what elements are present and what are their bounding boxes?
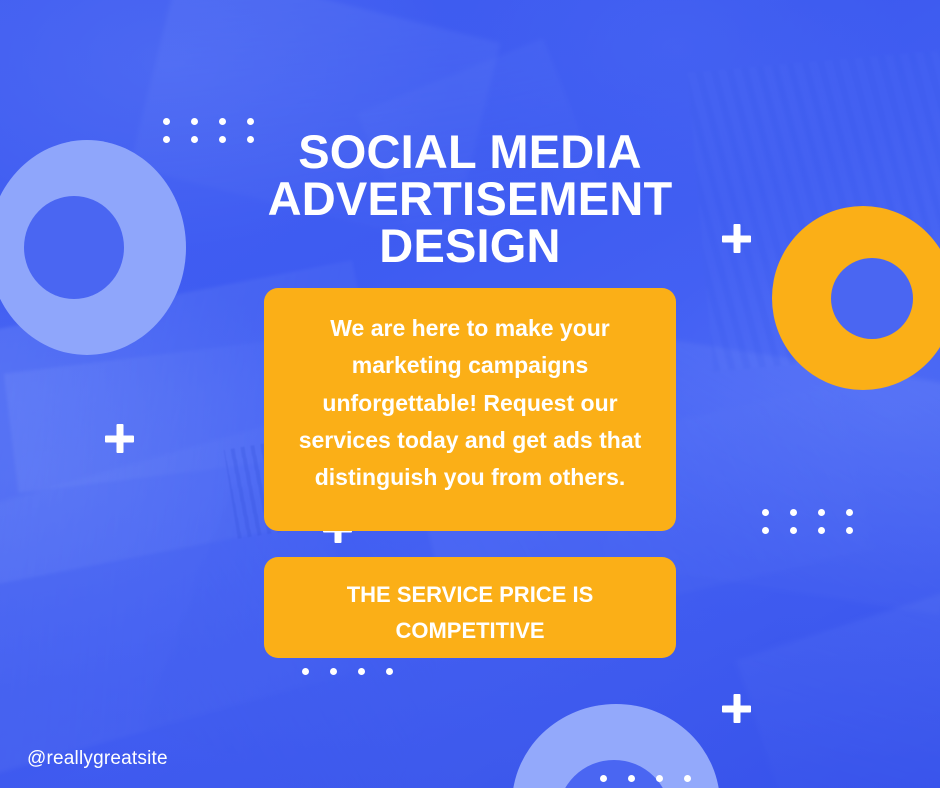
dot xyxy=(846,527,853,534)
dot-grid-middle-right xyxy=(762,509,853,534)
dot xyxy=(163,118,170,125)
ring-right-inner-icon xyxy=(831,258,913,339)
dot xyxy=(818,509,825,516)
dot xyxy=(656,775,663,782)
dot xyxy=(628,775,635,782)
dot xyxy=(358,668,365,675)
dot xyxy=(247,118,254,125)
dot xyxy=(330,668,337,675)
dot xyxy=(684,775,691,782)
dot xyxy=(600,775,607,782)
dot xyxy=(386,668,393,675)
price-card: THE SERVICE PRICE IS COMPETITIVE xyxy=(264,557,676,658)
plus-mark-bottom-right-icon xyxy=(722,694,751,723)
description-card: We are here to make your marketing campa… xyxy=(264,288,676,531)
dot xyxy=(219,118,226,125)
dot xyxy=(818,527,825,534)
plus-mark-left-icon xyxy=(105,424,134,453)
dot xyxy=(762,509,769,516)
page-title: SOCIAL MEDIA ADVERTISEMENT DESIGN xyxy=(180,128,760,269)
dot-grid-bottom-center xyxy=(600,775,691,782)
dot xyxy=(191,118,198,125)
social-media-ad-poster: SOCIAL MEDIA ADVERTISEMENT DESIGN We are… xyxy=(0,0,940,788)
dot xyxy=(302,668,309,675)
dot xyxy=(790,527,797,534)
dot xyxy=(790,509,797,516)
ring-top-left-inner-icon xyxy=(24,196,124,299)
dot xyxy=(762,527,769,534)
dot xyxy=(846,509,853,516)
dot xyxy=(163,136,170,143)
social-handle: @reallygreatsite xyxy=(27,748,168,770)
